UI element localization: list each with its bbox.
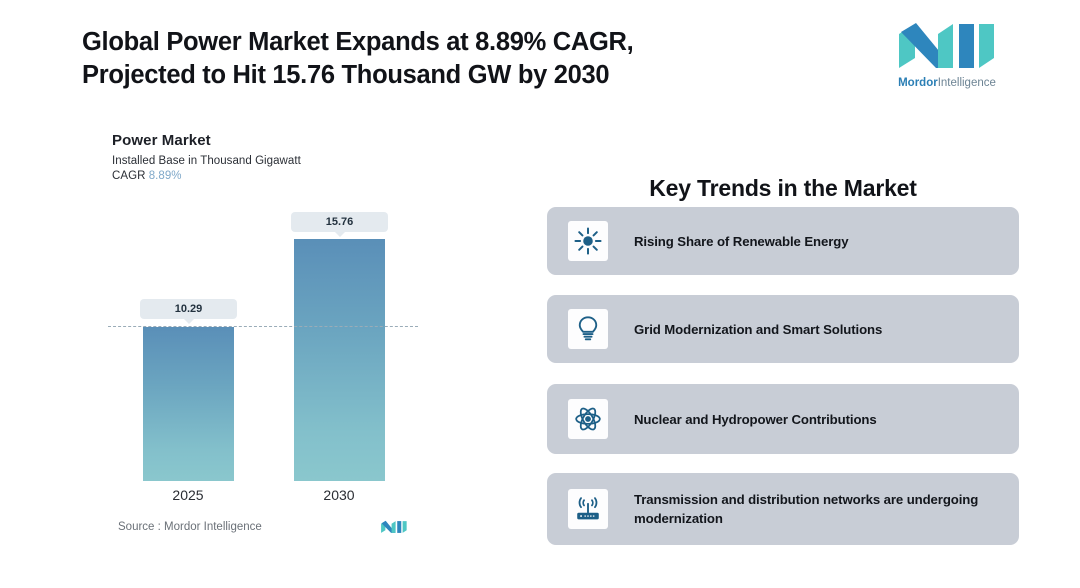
mordor-intelligence-logo-icon-small bbox=[380, 519, 408, 535]
cagr-value: 8.89% bbox=[149, 170, 182, 182]
trend-card-label: Nuclear and Hydropower Contributions bbox=[634, 410, 877, 429]
trend-card-grid-modernization[interactable]: Grid Modernization and Smart Solutions bbox=[547, 295, 1019, 363]
chart-source: Source : Mordor Intelligence bbox=[118, 519, 408, 535]
chart-title: Power Market bbox=[112, 132, 432, 149]
cagr-label: CAGR bbox=[112, 170, 145, 182]
source-text: Source : Mordor Intelligence bbox=[118, 521, 262, 533]
trend-card-nuclear-hydropower[interactable]: Nuclear and Hydropower Contributions bbox=[547, 384, 1019, 454]
trend-card-label: Grid Modernization and Smart Solutions bbox=[634, 320, 882, 339]
bar-2030 bbox=[294, 239, 385, 481]
trend-card-transmission-distribution[interactable]: Transmission and distribution networks a… bbox=[547, 473, 1019, 545]
brand-name-bold: Mordor bbox=[898, 77, 938, 89]
trend-card-renewable-energy[interactable]: Rising Share of Renewable Energy bbox=[547, 207, 1019, 275]
infographic-page: Global Power Market Expands at 8.89% CAG… bbox=[0, 0, 1080, 588]
trend-card-label: Rising Share of Renewable Energy bbox=[634, 232, 848, 251]
router-signal-icon bbox=[568, 489, 608, 529]
brand-wordmark: MordorIntelligence bbox=[888, 77, 1006, 90]
bar-value-label-2025: 10.29 bbox=[140, 299, 237, 319]
brand-name-light: Intelligence bbox=[938, 77, 996, 89]
mordor-intelligence-logo-icon bbox=[895, 20, 999, 72]
page-title-line-2: Projected to Hit 15.76 Thousand GW by 20… bbox=[82, 59, 782, 92]
sun-icon bbox=[568, 221, 608, 261]
chart-header: Power Market Installed Base in Thousand … bbox=[112, 132, 432, 182]
atom-icon bbox=[568, 399, 608, 439]
x-axis-label-2025: 2025 bbox=[133, 487, 243, 503]
key-trends-heading: Key Trends in the Market bbox=[547, 175, 1019, 202]
brand-logo: MordorIntelligence bbox=[888, 20, 1006, 90]
bar-2025 bbox=[143, 327, 234, 481]
lightbulb-icon bbox=[568, 309, 608, 349]
x-axis-label-2030: 2030 bbox=[284, 487, 394, 503]
page-title: Global Power Market Expands at 8.89% CAG… bbox=[82, 26, 782, 92]
reference-dashed-line bbox=[108, 326, 418, 327]
chart-subtitle: Installed Base in Thousand Gigawatt bbox=[112, 155, 432, 167]
page-title-line-1: Global Power Market Expands at 8.89% CAG… bbox=[82, 26, 782, 59]
chart-cagr: CAGR 8.89% bbox=[112, 170, 432, 182]
bar-value-label-2030: 15.76 bbox=[291, 212, 388, 232]
trend-card-label: Transmission and distribution networks a… bbox=[634, 490, 1003, 528]
